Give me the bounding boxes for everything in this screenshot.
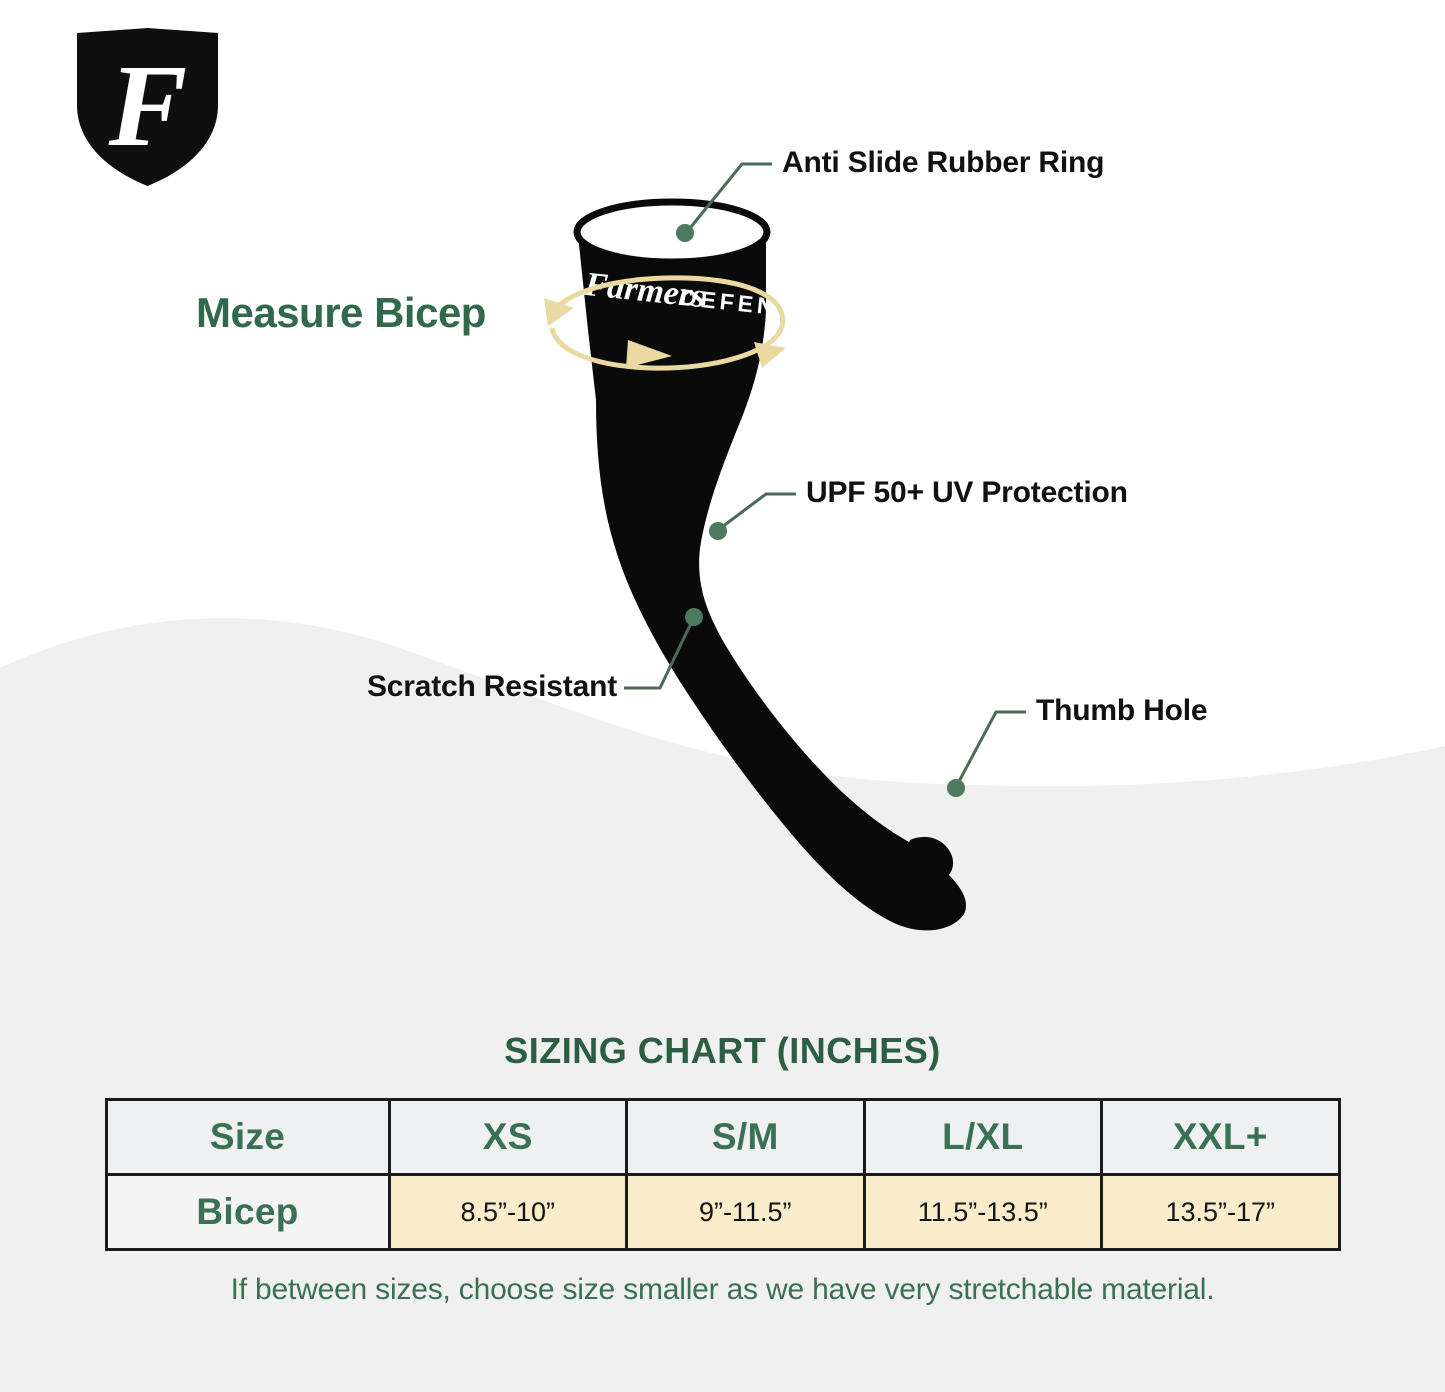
sizing-table: Size XS S/M L/XL XXL+ Bicep 8.5”-10” 9”-… [105,1098,1341,1251]
table-header-row: Size XS S/M L/XL XXL+ [106,1100,1339,1175]
table-header-xxl: XXL+ [1102,1100,1340,1175]
table-cell-bicep-lxl: 11.5”-13.5” [864,1175,1102,1250]
callout-label-upf-protection: UPF 50+ UV Protection [806,478,1128,508]
measure-bicep-label: Measure Bicep [196,292,486,334]
table-cell-bicep-sm: 9”-11.5” [627,1175,865,1250]
sizing-chart-block: SIZING CHART (INCHES) Size XS S/M L/XL X… [0,1030,1445,1307]
infographic-page: F Farmers DEFENSE [0,0,1445,1392]
callout-label-scratch-resistant: Scratch Resistant [367,672,617,702]
table-row: Bicep 8.5”-10” 9”-11.5” 11.5”-13.5” 13.5… [106,1175,1339,1250]
rubber-ring-opening [577,202,767,262]
sizing-chart-title: SIZING CHART (INCHES) [0,1030,1445,1072]
table-rowlabel-bicep: Bicep [106,1175,389,1250]
arm-sleeve-illustration: Farmers DEFENSE [500,180,1060,940]
table-header-lxl: L/XL [864,1100,1102,1175]
callout-label-anti-slide-rubber-ring: Anti Slide Rubber Ring [782,148,1104,178]
table-header-size: Size [106,1100,389,1175]
table-header-xs: XS [389,1100,627,1175]
shield-logo-icon: F [55,18,240,198]
table-cell-bicep-xxl: 13.5”-17” [1102,1175,1340,1250]
callout-label-thumb-hole: Thumb Hole [1036,696,1207,726]
sizing-chart-note: If between sizes, choose size smaller as… [0,1273,1445,1307]
logo-letter: F [108,40,188,171]
table-header-sm: S/M [627,1100,865,1175]
table-cell-bicep-xs: 8.5”-10” [389,1175,627,1250]
